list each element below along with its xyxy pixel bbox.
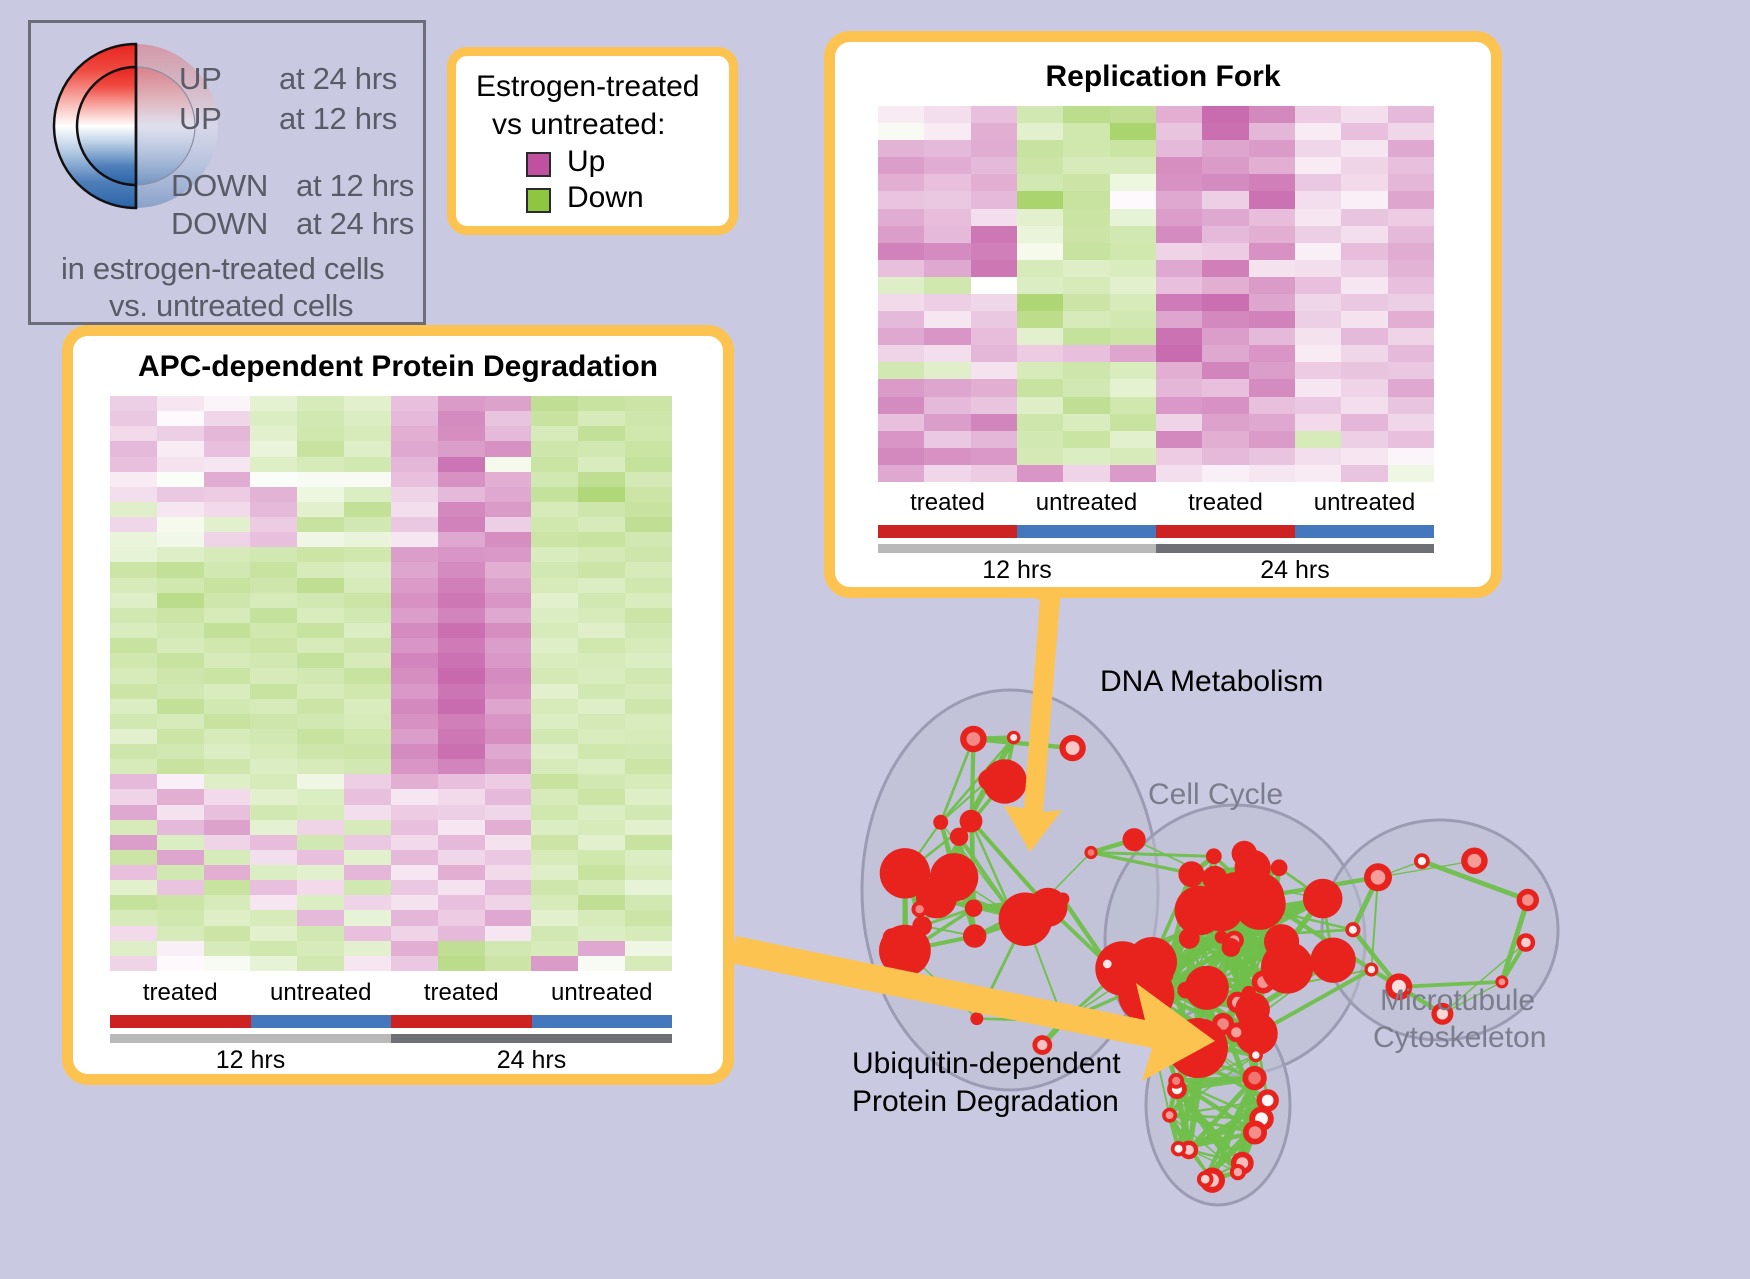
heatmap-cell bbox=[438, 578, 485, 593]
heatmap-cell bbox=[485, 562, 532, 577]
heatmap-cell bbox=[110, 910, 157, 925]
heatmap-cell bbox=[391, 850, 438, 865]
heatmap-cell bbox=[578, 699, 625, 714]
heatmap-cell bbox=[297, 865, 344, 880]
heatmap-cell bbox=[485, 623, 532, 638]
heatmap-cell bbox=[157, 759, 204, 774]
time-label: 24 hrs bbox=[391, 1046, 672, 1075]
heatmap-cell bbox=[1156, 209, 1202, 226]
heatmap-cell bbox=[1017, 294, 1063, 311]
heatmap-cell bbox=[625, 547, 672, 562]
heatmap-cell bbox=[1202, 294, 1248, 311]
heatmap-cell bbox=[110, 532, 157, 547]
heatmap-cell bbox=[110, 638, 157, 653]
network-node-core bbox=[1231, 1027, 1241, 1037]
heatmap-cell bbox=[531, 502, 578, 517]
heatmap-cell bbox=[391, 865, 438, 880]
legend-time-24-upper: at 24 hrs bbox=[279, 61, 397, 97]
condition-label: treated bbox=[878, 489, 1017, 517]
network-node bbox=[965, 900, 982, 917]
heatmap-cell bbox=[204, 608, 251, 623]
heatmap-cell bbox=[157, 426, 204, 441]
heatmap-cell bbox=[1110, 328, 1156, 345]
heatmap-cell bbox=[1110, 106, 1156, 123]
heatmap-cell bbox=[110, 441, 157, 456]
heatmap-cell bbox=[204, 714, 251, 729]
heatmap-cell bbox=[924, 174, 970, 191]
heatmap-cell bbox=[625, 638, 672, 653]
heatmap-cell bbox=[391, 941, 438, 956]
heatmap-cell bbox=[578, 532, 625, 547]
heatmap-cell bbox=[204, 593, 251, 608]
condition-labels-replication-fork: treateduntreatedtreateduntreated bbox=[878, 489, 1434, 517]
network-node-core bbox=[1066, 741, 1080, 755]
heatmap-cell bbox=[531, 895, 578, 910]
heatmap-cell bbox=[878, 191, 924, 208]
heatmap-cell bbox=[1341, 311, 1387, 328]
heatmap-cell bbox=[344, 895, 391, 910]
network-node bbox=[963, 924, 986, 947]
network-node-core bbox=[1234, 1168, 1242, 1176]
heatmap-cell bbox=[1017, 140, 1063, 157]
heatmap-cell bbox=[1156, 123, 1202, 140]
heatmap-cell bbox=[971, 226, 1017, 243]
heatmap-cell bbox=[1063, 260, 1109, 277]
heatmap-cell bbox=[1249, 106, 1295, 123]
network-node bbox=[1206, 848, 1222, 864]
heatmap-cell bbox=[110, 729, 157, 744]
condition-bar-segment bbox=[1156, 525, 1295, 538]
heatmap-cell bbox=[110, 472, 157, 487]
network-node-core bbox=[1059, 1016, 1068, 1025]
heatmap-cell bbox=[1156, 362, 1202, 379]
heatmap-cell bbox=[924, 123, 970, 140]
heatmap-cell bbox=[438, 396, 485, 411]
heatmap-cell bbox=[438, 684, 485, 699]
heatmap-cell bbox=[110, 956, 157, 971]
heatmap-cell bbox=[297, 623, 344, 638]
heatmap-apc-dependent-protein-degradation bbox=[110, 396, 672, 971]
heatmap-cell bbox=[924, 362, 970, 379]
network-node bbox=[1202, 866, 1227, 891]
heatmap-cell bbox=[157, 895, 204, 910]
heatmap-cell bbox=[1388, 362, 1434, 379]
heatmap-cell bbox=[1249, 448, 1295, 465]
heatmap-cell bbox=[157, 441, 204, 456]
heatmap-cell bbox=[438, 472, 485, 487]
heatmap-cell bbox=[204, 668, 251, 683]
heatmap-cell bbox=[531, 411, 578, 426]
heatmap-cell bbox=[438, 789, 485, 804]
heatmap-cell bbox=[1295, 243, 1341, 260]
heatmap-cell bbox=[971, 243, 1017, 260]
heatmap-cell bbox=[578, 426, 625, 441]
heatmap-cell bbox=[110, 880, 157, 895]
heatmap-cell bbox=[531, 562, 578, 577]
heatmap-cell bbox=[204, 895, 251, 910]
heatmap-cell bbox=[578, 668, 625, 683]
heatmap-cell bbox=[878, 260, 924, 277]
heatmap-cell bbox=[344, 941, 391, 956]
network-node-core bbox=[1201, 1175, 1210, 1184]
heatmap-cell bbox=[250, 487, 297, 502]
time-label: 12 hrs bbox=[878, 556, 1156, 585]
heatmap-cell bbox=[1156, 191, 1202, 208]
network-node-core bbox=[1010, 734, 1017, 741]
heatmap-cell bbox=[250, 759, 297, 774]
heatmap-cell bbox=[578, 684, 625, 699]
heatmap-cell bbox=[438, 562, 485, 577]
heatmap-cell bbox=[110, 684, 157, 699]
heatmap-cell bbox=[531, 578, 578, 593]
heatmap-cell bbox=[438, 774, 485, 789]
heatmap-cell bbox=[204, 805, 251, 820]
heatmap-cell bbox=[344, 517, 391, 532]
heatmap-cell bbox=[157, 789, 204, 804]
heatmap-cell bbox=[1156, 431, 1202, 448]
heatmap-cell bbox=[1341, 243, 1387, 260]
heatmap-cell bbox=[391, 699, 438, 714]
heatmap-cell bbox=[157, 684, 204, 699]
heatmap-cell bbox=[344, 668, 391, 683]
condition-bar-apc bbox=[110, 1015, 672, 1028]
legend-state-up-24: UP bbox=[179, 61, 221, 97]
heatmap-cell bbox=[1110, 226, 1156, 243]
heatmap-cell bbox=[1341, 209, 1387, 226]
condition-label: untreated bbox=[251, 979, 392, 1007]
heatmap-cell bbox=[391, 774, 438, 789]
heatmap-cell bbox=[110, 865, 157, 880]
network-node bbox=[1311, 938, 1356, 983]
heatmap-cell bbox=[1202, 123, 1248, 140]
heatmap-cell bbox=[531, 774, 578, 789]
heatmap-cell bbox=[344, 729, 391, 744]
heatmap-cell bbox=[204, 880, 251, 895]
heatmap-cell bbox=[625, 895, 672, 910]
heatmap-cell bbox=[110, 774, 157, 789]
heatmap-cell bbox=[344, 472, 391, 487]
heatmap-cell bbox=[1295, 209, 1341, 226]
heatmap-cell bbox=[204, 926, 251, 941]
heatmap-cell bbox=[1110, 379, 1156, 396]
heatmap-cell bbox=[297, 805, 344, 820]
heatmap-cell bbox=[1295, 277, 1341, 294]
heatmap-cell bbox=[297, 880, 344, 895]
heatmap-cell bbox=[625, 441, 672, 456]
heatmap-cell bbox=[157, 623, 204, 638]
heatmap-cell bbox=[438, 653, 485, 668]
heatmap-cell bbox=[485, 926, 532, 941]
heatmap-cell bbox=[1388, 345, 1434, 362]
heatmap-cell bbox=[1341, 191, 1387, 208]
heatmap-cell bbox=[1295, 414, 1341, 431]
heatmap-cell bbox=[485, 759, 532, 774]
heatmap-cell bbox=[250, 502, 297, 517]
heatmap-cell bbox=[1388, 123, 1434, 140]
heatmap-cell bbox=[110, 653, 157, 668]
heatmap-cell bbox=[485, 910, 532, 925]
condition-bar-segment bbox=[391, 1015, 532, 1028]
heatmap-cell bbox=[344, 487, 391, 502]
heatmap-cell bbox=[344, 653, 391, 668]
heatmap-cell bbox=[438, 926, 485, 941]
heatmap-cell bbox=[971, 157, 1017, 174]
heatmap-cell bbox=[1063, 465, 1109, 482]
heatmap-cell bbox=[297, 441, 344, 456]
network-node bbox=[1234, 878, 1286, 930]
heatmap-cell bbox=[1295, 191, 1341, 208]
heatmap-cell bbox=[878, 465, 924, 482]
heatmap-cell bbox=[250, 578, 297, 593]
heatmap-cell bbox=[924, 243, 970, 260]
heatmap-cell bbox=[438, 835, 485, 850]
heatmap-cell bbox=[438, 638, 485, 653]
heatmap-cell bbox=[1063, 277, 1109, 294]
legend-swatch-up bbox=[526, 152, 551, 177]
heatmap-cell bbox=[157, 593, 204, 608]
heatmap-cell bbox=[1388, 191, 1434, 208]
heatmap-cell bbox=[391, 502, 438, 517]
heatmap-cell bbox=[578, 880, 625, 895]
heatmap-cell bbox=[485, 668, 532, 683]
network-node bbox=[983, 759, 1027, 803]
heatmap-cell bbox=[391, 608, 438, 623]
heatmap-cell bbox=[971, 191, 1017, 208]
heatmap-cell bbox=[157, 668, 204, 683]
cluster-label-microtubule-line1: Microtubule bbox=[1380, 984, 1535, 1018]
network-node bbox=[1303, 879, 1343, 919]
heatmap-cell bbox=[157, 638, 204, 653]
heatmap-cell bbox=[391, 910, 438, 925]
heatmap-cell bbox=[110, 926, 157, 941]
heatmap-cell bbox=[297, 744, 344, 759]
heatmap-cell bbox=[1341, 140, 1387, 157]
heatmap-cell bbox=[578, 517, 625, 532]
heatmap-cell bbox=[578, 653, 625, 668]
heatmap-cell bbox=[250, 895, 297, 910]
heatmap-cell bbox=[878, 448, 924, 465]
heatmap-cell bbox=[578, 714, 625, 729]
heatmap-cell bbox=[625, 487, 672, 502]
heatmap-cell bbox=[625, 865, 672, 880]
network-node-core bbox=[1166, 1111, 1174, 1119]
heatmap-cell bbox=[110, 623, 157, 638]
heatmap-cell bbox=[625, 820, 672, 835]
heatmap-cell bbox=[625, 774, 672, 789]
heatmap-cell bbox=[391, 457, 438, 472]
heatmap-cell bbox=[625, 502, 672, 517]
network-node bbox=[1214, 905, 1236, 927]
heatmap-cell bbox=[578, 593, 625, 608]
heatmap-cell bbox=[157, 699, 204, 714]
heatmap-cell bbox=[1156, 106, 1202, 123]
heatmap-cell bbox=[1295, 226, 1341, 243]
heatmap-cell bbox=[924, 209, 970, 226]
heatmap-cell bbox=[531, 426, 578, 441]
heatmap-cell bbox=[878, 379, 924, 396]
heatmap-cell bbox=[1341, 431, 1387, 448]
heatmap-cell bbox=[438, 820, 485, 835]
heatmap-cell bbox=[531, 441, 578, 456]
heatmap-cell bbox=[1388, 209, 1434, 226]
heatmap-cell bbox=[971, 362, 1017, 379]
heatmap-cell bbox=[1249, 157, 1295, 174]
heatmap-cell bbox=[297, 789, 344, 804]
heatmap-cell bbox=[625, 850, 672, 865]
heatmap-cell bbox=[250, 593, 297, 608]
heatmap-cell bbox=[250, 865, 297, 880]
heatmap-cell bbox=[157, 956, 204, 971]
network-node-core bbox=[915, 905, 923, 913]
heatmap-cell bbox=[1202, 191, 1248, 208]
heatmap-cell bbox=[1388, 294, 1434, 311]
heatmap-cell bbox=[1063, 397, 1109, 414]
heatmap-cell bbox=[157, 820, 204, 835]
heatmap-cell bbox=[438, 699, 485, 714]
heatmap-cell bbox=[1341, 414, 1387, 431]
heatmap-cell bbox=[1295, 140, 1341, 157]
heatmap-cell bbox=[485, 593, 532, 608]
heatmap-cell bbox=[625, 517, 672, 532]
heatmap-cell bbox=[485, 532, 532, 547]
heatmap-cell bbox=[110, 895, 157, 910]
heatmap-cell bbox=[531, 865, 578, 880]
heatmap-cell bbox=[1295, 448, 1341, 465]
heatmap-cell bbox=[1295, 311, 1341, 328]
heatmap-cell bbox=[531, 532, 578, 547]
heatmap-cell bbox=[157, 880, 204, 895]
heatmap-cell bbox=[971, 294, 1017, 311]
heatmap-cell bbox=[1110, 157, 1156, 174]
heatmap-cell bbox=[344, 835, 391, 850]
heatmap-cell bbox=[1063, 140, 1109, 157]
heatmap-cell bbox=[485, 411, 532, 426]
heatmap-cell bbox=[1295, 345, 1341, 362]
condition-bar-segment bbox=[110, 1015, 251, 1028]
heatmap-cell bbox=[578, 623, 625, 638]
heatmap-cell bbox=[878, 294, 924, 311]
heatmap-cell bbox=[1341, 260, 1387, 277]
heatmap-cell bbox=[1341, 465, 1387, 482]
heatmap-cell bbox=[250, 426, 297, 441]
heatmap-replication-fork bbox=[878, 106, 1434, 482]
network-node-core bbox=[1468, 854, 1482, 868]
heatmap-cell bbox=[625, 805, 672, 820]
legend-time-24-lower: at 24 hrs bbox=[296, 206, 414, 242]
heatmap-cell bbox=[344, 714, 391, 729]
heatmap-cell bbox=[531, 638, 578, 653]
heatmap-cell bbox=[1341, 106, 1387, 123]
heatmap-cell bbox=[297, 562, 344, 577]
heatmap-cell bbox=[204, 729, 251, 744]
heatmap-cell bbox=[391, 653, 438, 668]
heatmap-cell bbox=[924, 397, 970, 414]
legend-up-down-key: Estrogen-treated vs untreated: Up Down bbox=[447, 47, 738, 235]
heatmap-cell bbox=[110, 789, 157, 804]
heatmap-cell bbox=[1388, 277, 1434, 294]
heatmap-cell bbox=[438, 850, 485, 865]
network-node-core bbox=[1521, 938, 1531, 948]
heatmap-cell bbox=[531, 805, 578, 820]
heatmap-cell bbox=[1249, 294, 1295, 311]
heatmap-cell bbox=[625, 472, 672, 487]
heatmap-cell bbox=[344, 623, 391, 638]
heatmap-cell bbox=[250, 820, 297, 835]
heatmap-cell bbox=[344, 396, 391, 411]
heatmap-cell bbox=[1295, 362, 1341, 379]
heatmap-cell bbox=[1249, 140, 1295, 157]
heatmap-cell bbox=[204, 502, 251, 517]
heatmap-cell bbox=[391, 805, 438, 820]
heatmap-cell bbox=[924, 226, 970, 243]
heatmap-cell bbox=[297, 593, 344, 608]
heatmap-cell bbox=[1017, 448, 1063, 465]
heatmap-cell bbox=[391, 684, 438, 699]
heatmap-cell bbox=[878, 106, 924, 123]
heatmap-cell bbox=[531, 759, 578, 774]
heatmap-cell bbox=[1063, 328, 1109, 345]
heatmap-cell bbox=[297, 638, 344, 653]
heatmap-cell bbox=[157, 457, 204, 472]
heatmap-cell bbox=[110, 820, 157, 835]
heatmap-cell bbox=[971, 174, 1017, 191]
heatmap-cell bbox=[578, 759, 625, 774]
heatmap-cell bbox=[204, 396, 251, 411]
heatmap-cell bbox=[1388, 140, 1434, 157]
heatmap-cell bbox=[878, 123, 924, 140]
heatmap-cell bbox=[924, 157, 970, 174]
heatmap-cell bbox=[1110, 362, 1156, 379]
heatmap-cell bbox=[1156, 414, 1202, 431]
heatmap-cell bbox=[157, 396, 204, 411]
heatmap-cell bbox=[438, 910, 485, 925]
heatmap-cell bbox=[204, 865, 251, 880]
heatmap-cell bbox=[1017, 465, 1063, 482]
heatmap-cell bbox=[391, 623, 438, 638]
heatmap-cell bbox=[485, 835, 532, 850]
heatmap-cell bbox=[391, 668, 438, 683]
heatmap-cell bbox=[1202, 328, 1248, 345]
heatmap-cell bbox=[625, 729, 672, 744]
cluster-label-cell-cycle: Cell Cycle bbox=[1148, 778, 1283, 812]
legend-caption-line1: in estrogen-treated cells bbox=[61, 251, 384, 287]
heatmap-cell bbox=[924, 345, 970, 362]
heatmap-cell bbox=[297, 653, 344, 668]
network-node bbox=[1150, 985, 1170, 1005]
heatmap-cell bbox=[250, 729, 297, 744]
heatmap-cell bbox=[1063, 294, 1109, 311]
heatmap-cell bbox=[485, 956, 532, 971]
heatmap-cell bbox=[344, 547, 391, 562]
heatmap-cell bbox=[204, 517, 251, 532]
heatmap-cell bbox=[204, 774, 251, 789]
heatmap-cell bbox=[250, 910, 297, 925]
heatmap-cell bbox=[1063, 226, 1109, 243]
heatmap-cell bbox=[1249, 465, 1295, 482]
heatmap-cell bbox=[1017, 414, 1063, 431]
condition-bar-segment bbox=[532, 1015, 673, 1028]
heatmap-cell bbox=[1249, 414, 1295, 431]
network-node bbox=[1127, 937, 1177, 987]
heatmap-cell bbox=[250, 608, 297, 623]
heatmap-cell bbox=[391, 956, 438, 971]
heatmap-cell bbox=[157, 517, 204, 532]
heatmap-cell bbox=[1110, 191, 1156, 208]
network-node bbox=[933, 815, 948, 830]
heatmap-cell bbox=[204, 578, 251, 593]
heatmap-cell bbox=[438, 668, 485, 683]
heatmap-cell bbox=[1017, 311, 1063, 328]
